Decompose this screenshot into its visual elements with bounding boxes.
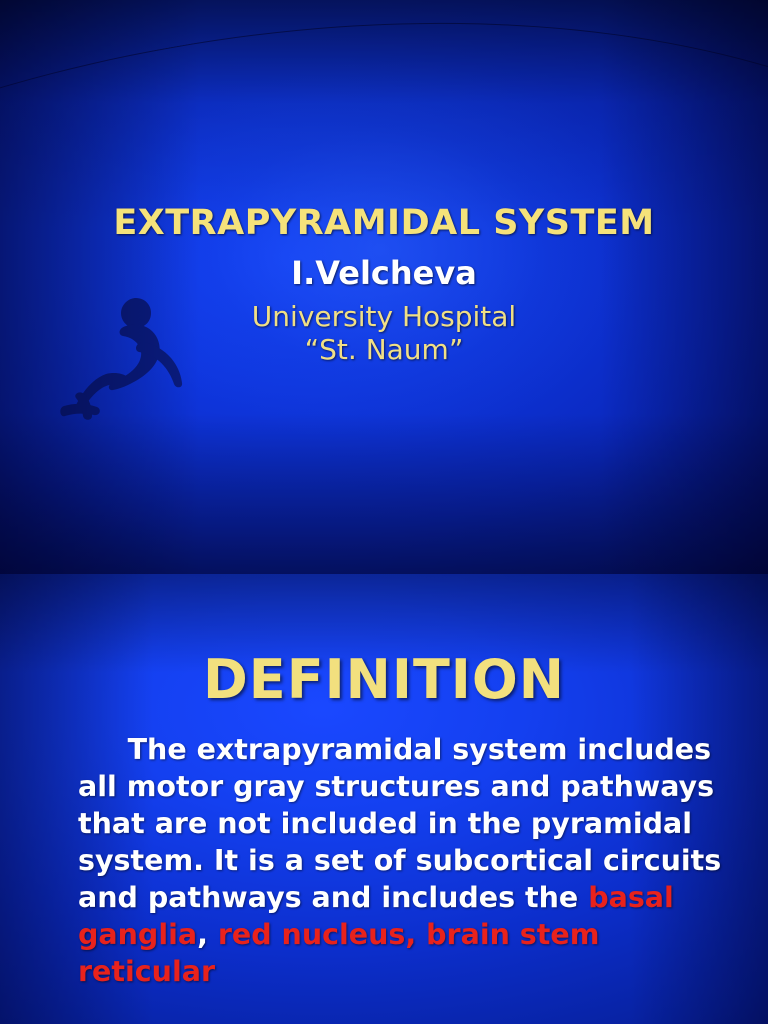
definition-slide-title: DEFINITION	[0, 648, 768, 711]
organization-line-2: “St. Naum”	[0, 333, 768, 366]
slide-author: I.Velcheva	[0, 254, 768, 292]
slide-deck-page: EXTRAPYRAMIDAL SYSTEM I.Velcheva Univers…	[0, 0, 768, 1024]
definition-text-segment-2: ,	[197, 918, 218, 951]
slide-organization: University Hospital “St. Naum”	[0, 300, 768, 366]
slide-title: EXTRAPYRAMIDAL SYSTEM	[0, 205, 768, 242]
title-slide-text-block: EXTRAPYRAMIDAL SYSTEM I.Velcheva Univers…	[0, 205, 768, 366]
title-slide: EXTRAPYRAMIDAL SYSTEM I.Velcheva Univers…	[0, 0, 768, 574]
definition-slide-body: The extrapyramidal system includes all m…	[78, 731, 738, 990]
organization-line-1: University Hospital	[252, 300, 516, 333]
